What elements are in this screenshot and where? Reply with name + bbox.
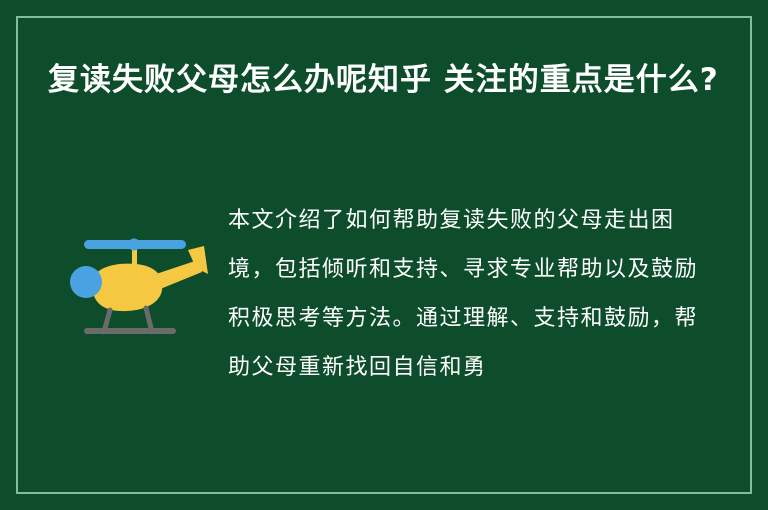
helicopter-illustration <box>48 216 218 366</box>
page-title: 复读失败父母怎么办呢知乎 关注的重点是什么? <box>48 56 720 105</box>
article-paragraph: 本文介绍了如何帮助复读失败的父母走出困境，包括倾听和支持、寻求专业帮助以及鼓励积… <box>228 196 720 392</box>
article-card: 复读失败父母怎么办呢知乎 关注的重点是什么? <box>0 0 768 510</box>
article-body: 本文介绍了如何帮助复读失败的父母走出困境，包括倾听和支持、寻求专业帮助以及鼓励积… <box>48 196 720 392</box>
